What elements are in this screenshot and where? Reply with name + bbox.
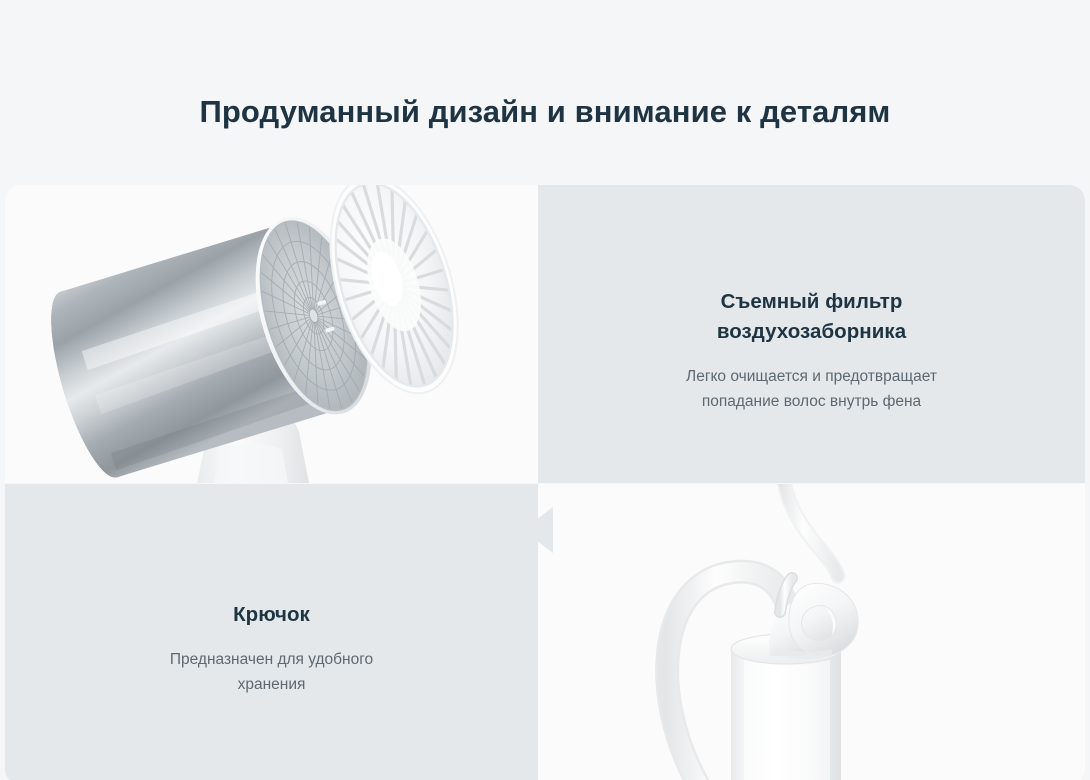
feature-description-filter: Легко очищается и предотвращает попадани…	[578, 364, 1045, 414]
hook-illustration	[538, 484, 1085, 780]
feature-description-hook: Предназначен для удобного хранения	[45, 647, 498, 697]
pointer-chevron-left	[523, 507, 553, 553]
feature-text-block: Крючок Предназначен для удобного хранени…	[5, 600, 538, 697]
feature-image-panel-dryer	[5, 185, 538, 483]
hook-image	[538, 484, 1085, 780]
feature-title-filter: Съемный фильтр воздухозаборника	[578, 287, 1045, 347]
feature-description-line-1: Предназначен для удобного	[170, 651, 373, 668]
feature-description-line-1: Легко очищается и предотвращает	[686, 368, 937, 385]
feature-title-line-2: воздухозаборника	[717, 320, 906, 343]
feature-grid-page: Продуманный дизайн и внимание к деталям	[0, 0, 1090, 780]
feature-text-panel-hook: Крючок Предназначен для удобного хранени…	[5, 484, 538, 780]
hair-dryer-image	[5, 185, 538, 483]
feature-text-block: Съемный фильтр воздухозаборника Легко оч…	[538, 287, 1085, 414]
feature-title-line-1: Съемный фильтр	[721, 290, 903, 313]
page-title: Продуманный дизайн и внимание к деталям	[0, 92, 1090, 132]
feature-description-line-2: хранения	[238, 676, 306, 693]
chevron-left-icon	[523, 507, 553, 553]
feature-title-hook: Крючок	[45, 600, 498, 630]
hair-dryer-illustration	[5, 185, 538, 483]
feature-image-panel-hook	[538, 484, 1085, 780]
feature-grid: Съемный фильтр воздухозаборника Легко оч…	[5, 185, 1085, 780]
feature-description-line-2: попадание волос внутрь фена	[702, 393, 921, 410]
feature-text-panel-filter: Съемный фильтр воздухозаборника Легко оч…	[538, 185, 1085, 483]
